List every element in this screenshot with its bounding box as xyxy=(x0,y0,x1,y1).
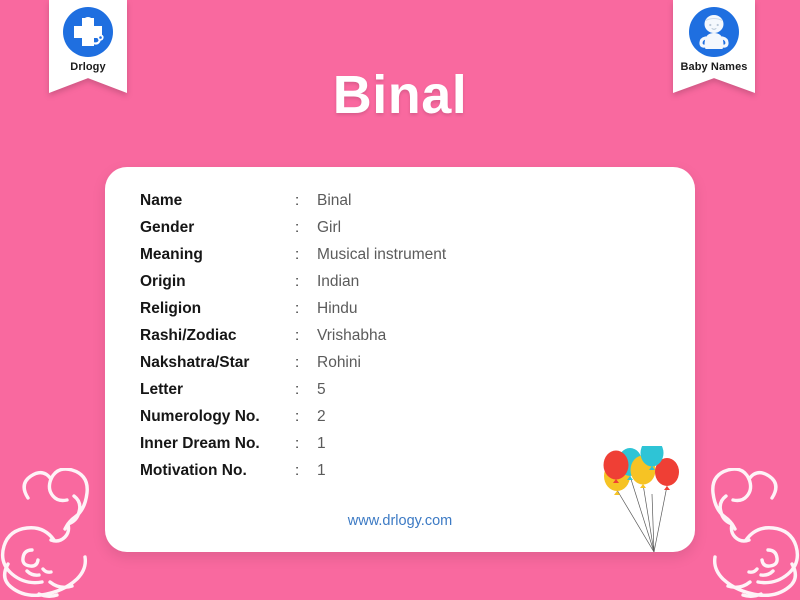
list-item: Inner Dream No. : 1 xyxy=(140,435,446,462)
row-label: Religion xyxy=(140,300,295,318)
row-value: 5 xyxy=(317,381,326,399)
row-label: Meaning xyxy=(140,246,295,264)
row-value: Binal xyxy=(317,192,351,210)
row-separator: : xyxy=(295,381,317,398)
list-item: Name : Binal xyxy=(140,192,446,219)
row-label: Rashi/Zodiac xyxy=(140,327,295,345)
list-item: Numerology No. : 2 xyxy=(140,408,446,435)
row-separator: : xyxy=(295,300,317,317)
row-label: Numerology No. xyxy=(140,408,295,426)
mother-and-baby-icon-left xyxy=(0,468,110,600)
row-label: Inner Dream No. xyxy=(140,435,295,453)
page-title: Binal xyxy=(0,64,800,126)
row-value: 1 xyxy=(317,435,326,453)
list-item: Meaning : Musical instrument xyxy=(140,246,446,273)
list-item: Motivation No. : 1 xyxy=(140,462,446,489)
list-item: Letter : 5 xyxy=(140,381,446,408)
drlogy-medical-cross-icon xyxy=(63,7,113,57)
row-label: Name xyxy=(140,192,295,210)
list-item: Origin : Indian xyxy=(140,273,446,300)
row-value: Rohini xyxy=(317,354,361,372)
list-item: Rashi/Zodiac : Vrishabha xyxy=(140,327,446,354)
row-separator: : xyxy=(295,354,317,371)
list-item: Religion : Hindu xyxy=(140,300,446,327)
row-value: Girl xyxy=(317,219,341,237)
row-label: Origin xyxy=(140,273,295,291)
name-details-card: Name : Binal Gender : Girl Meaning : Mus… xyxy=(105,167,695,552)
row-separator: : xyxy=(295,219,317,236)
details-list: Name : Binal Gender : Girl Meaning : Mus… xyxy=(140,192,446,489)
mother-and-baby-icon-right xyxy=(690,468,800,600)
row-label: Gender xyxy=(140,219,295,237)
row-value: Musical instrument xyxy=(317,246,446,264)
row-label: Nakshatra/Star xyxy=(140,354,295,372)
balloons-icon xyxy=(597,446,689,552)
row-value: Hindu xyxy=(317,300,358,318)
row-value: 1 xyxy=(317,462,326,480)
row-separator: : xyxy=(295,327,317,344)
row-value: Vrishabha xyxy=(317,327,386,345)
row-separator: : xyxy=(295,408,317,425)
list-item: Gender : Girl xyxy=(140,219,446,246)
row-separator: : xyxy=(295,462,317,479)
row-value: 2 xyxy=(317,408,326,426)
row-separator: : xyxy=(295,435,317,452)
row-value: Indian xyxy=(317,273,359,291)
row-label: Letter xyxy=(140,381,295,399)
row-separator: : xyxy=(295,192,317,209)
poster-canvas: Drlogy Baby Names Binal Name xyxy=(0,0,800,600)
baby-icon xyxy=(689,7,739,57)
row-separator: : xyxy=(295,273,317,290)
list-item: Nakshatra/Star : Rohini xyxy=(140,354,446,381)
row-label: Motivation No. xyxy=(140,462,295,480)
row-separator: : xyxy=(295,246,317,263)
website-link[interactable]: www.drlogy.com xyxy=(105,513,695,529)
